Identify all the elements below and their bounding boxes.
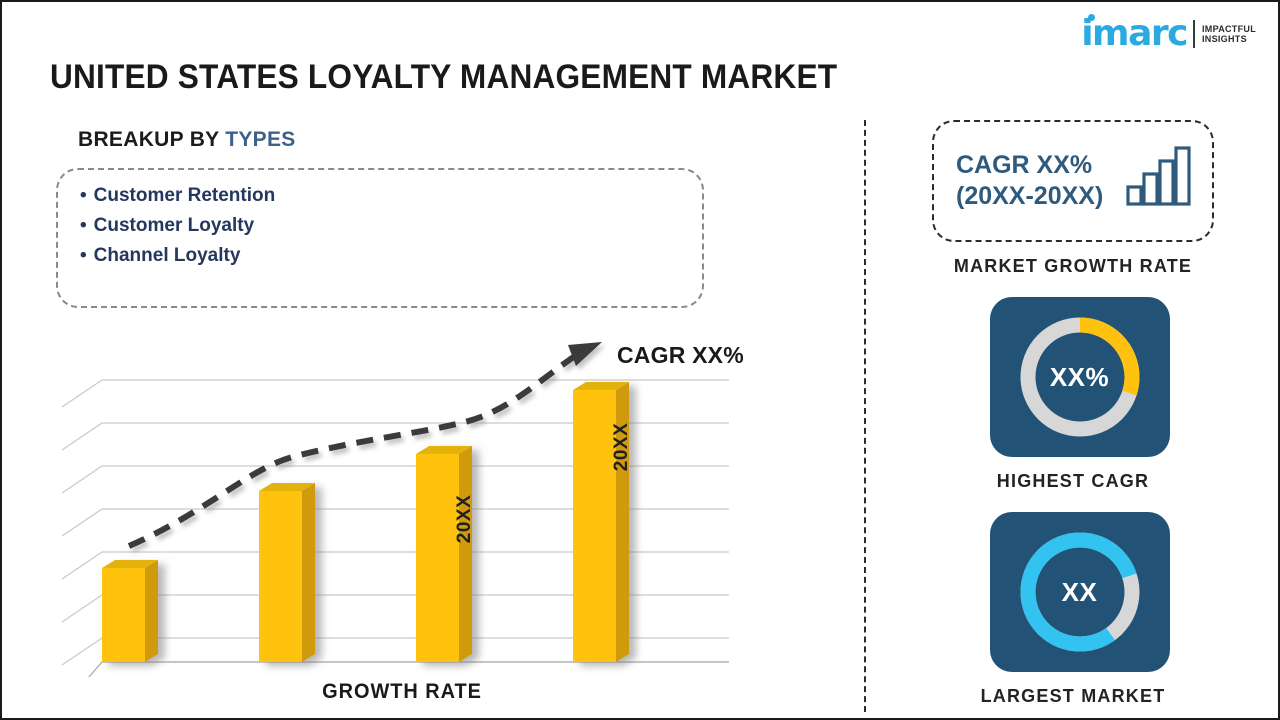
logo-tagline: IMPACTFUL INSIGHTS (1202, 24, 1256, 45)
largest-market-card: XX (990, 512, 1170, 672)
imarc-logo: imarc IMPACTFUL INSIGHTS (1081, 14, 1256, 54)
breakup-types-box: Customer Retention Customer Loyalty Chan… (56, 168, 704, 308)
right-panel: CAGR XX% (20XX-20XX) MARKET GROWTH RATE (932, 120, 1227, 707)
breakup-types-list: Customer Retention Customer Loyalty Chan… (58, 170, 702, 271)
logo-tagline-line1: IMPACTFUL (1202, 24, 1256, 34)
breakup-heading-highlight: TYPES (225, 128, 295, 151)
breakup-heading: BREAKUP BY TYPES (78, 128, 296, 152)
bar-1 (102, 560, 158, 662)
logo-wordmark: imarc (1081, 16, 1187, 52)
bar-label-4: 20XX (611, 423, 633, 471)
highest-cagr-value: XX% (990, 297, 1170, 457)
largest-market-value: XX (990, 512, 1170, 672)
cagr-card-line1: CAGR XX% (956, 150, 1103, 181)
chart-baseline (62, 662, 729, 677)
largest-market-caption: LARGEST MARKET (932, 686, 1214, 707)
bar-2 (259, 483, 315, 662)
bar-label-3: 20XX (454, 495, 476, 543)
cagr-card-line2: (20XX-20XX) (956, 181, 1103, 212)
chart-xaxis-label: GROWTH RATE (74, 680, 730, 704)
growth-rate-bar-chart: CAGR XX% 20XX 20XX GROWTH RATE (57, 332, 747, 702)
chart-cagr-label: CAGR XX% (617, 342, 744, 369)
list-item: Customer Retention (80, 181, 702, 211)
breakup-heading-prefix: BREAKUP BY (78, 128, 225, 151)
market-growth-rate-caption: MARKET GROWTH RATE (932, 256, 1214, 277)
list-item: Channel Loyalty (80, 241, 702, 271)
list-item: Customer Loyalty (80, 211, 702, 241)
logo-tagline-line2: INSIGHTS (1202, 34, 1256, 44)
chart-trend-line (129, 342, 602, 546)
bar-3 (416, 446, 472, 662)
panel-divider (864, 120, 866, 712)
logo-divider (1193, 20, 1195, 48)
page-title: UNITED STATES LOYALTY MANAGEMENT MARKET (50, 58, 837, 97)
slide-canvas: imarc IMPACTFUL INSIGHTS UNITED STATES L… (0, 0, 1280, 720)
bar-chart-icon (1126, 145, 1192, 212)
chart-svg (57, 332, 747, 677)
highest-cagr-card: XX% (990, 297, 1170, 457)
market-growth-rate-card: CAGR XX% (20XX-20XX) (932, 120, 1214, 242)
cagr-card-text: CAGR XX% (20XX-20XX) (956, 150, 1103, 213)
highest-cagr-caption: HIGHEST CAGR (932, 471, 1214, 492)
